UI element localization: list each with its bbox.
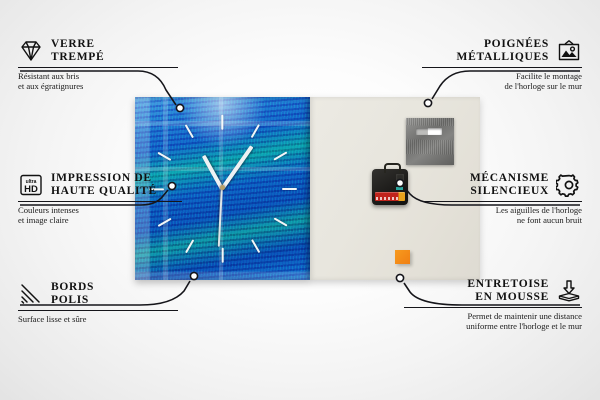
- feature-impression-haute-qualite[interactable]: ultra HD IMPRESSION DE HAUTE QUALITÉ Cou…: [18, 172, 182, 226]
- feature-entretoise-en-mousse[interactable]: ENTRETOISE EN MOUSSE Permet de maintenir…: [404, 278, 582, 332]
- ultra-hd-icon: ultra HD: [18, 173, 44, 197]
- divider: [18, 67, 178, 68]
- feature-description: Facilite le montage de l'horloge sur le …: [422, 71, 582, 92]
- battery-label: [376, 197, 398, 200]
- divider: [18, 201, 182, 202]
- gear-icon: [556, 173, 582, 197]
- clock-center-hub: [220, 185, 225, 190]
- feature-title: VERRE TREMPÉ: [51, 38, 104, 64]
- polished-edges-icon: [18, 282, 44, 306]
- feature-description: Les aiguilles de l'horloge ne font aucun…: [422, 205, 582, 226]
- feature-description: Résistant aux bris et aux égratignures: [18, 71, 178, 92]
- divider: [422, 67, 582, 68]
- clock-tick: [158, 151, 172, 161]
- feature-poignees-metalliques[interactable]: POIGNÉES MÉTALLIQUES Facilite le montage…: [422, 38, 582, 92]
- feature-title: BORDS POLIS: [51, 281, 94, 307]
- metal-hanger-plate: [406, 118, 454, 165]
- hanger-slot: [416, 128, 442, 135]
- clock-tick: [273, 217, 287, 227]
- picture-hanger-icon: [556, 39, 582, 63]
- divider: [404, 307, 582, 308]
- divider: [18, 310, 178, 311]
- clock-tick: [221, 248, 223, 263]
- clock-tick: [184, 239, 194, 253]
- foam-spacer-icon: [556, 279, 582, 303]
- feature-description: Couleurs intenses et image claire: [18, 205, 182, 226]
- movement-marking: [396, 187, 403, 190]
- clock-tick: [184, 124, 194, 138]
- clock-tick: [273, 151, 287, 161]
- feature-title: ENTRETOISE EN MOUSSE: [467, 278, 549, 304]
- movement-hook: [384, 163, 401, 173]
- clock-minute-hand: [220, 145, 253, 190]
- feature-verre-trempe[interactable]: VERRE TREMPÉ Résistant aux bris et aux é…: [18, 38, 178, 92]
- svg-text:HD: HD: [24, 184, 38, 195]
- clock-tick: [282, 188, 297, 190]
- feature-description: Permet de maintenir une distance uniform…: [404, 311, 582, 332]
- diamond-icon: [18, 39, 44, 63]
- clock-tick: [251, 124, 261, 138]
- feature-bords-polis[interactable]: BORDS POLIS Surface lisse et sûre: [18, 281, 178, 324]
- feature-title: IMPRESSION DE HAUTE QUALITÉ: [51, 172, 157, 198]
- movement-port: [396, 174, 404, 184]
- feature-mecanisme-silencieux[interactable]: MÉCANISME SILENCIEUX Les aiguilles de l'…: [422, 172, 582, 226]
- feature-description: Surface lisse et sûre: [18, 314, 178, 324]
- clock-tick: [221, 115, 223, 130]
- feature-title: POIGNÉES MÉTALLIQUES: [457, 38, 549, 64]
- clock-tick: [251, 239, 261, 253]
- infographic-canvas: VERRE TREMPÉ Résistant aux bris et aux é…: [0, 0, 600, 400]
- divider: [422, 201, 582, 202]
- foam-spacer: [395, 250, 410, 264]
- feature-title: MÉCANISME SILENCIEUX: [470, 172, 549, 198]
- quartz-movement: [372, 169, 408, 205]
- clock-second-hand: [218, 189, 223, 247]
